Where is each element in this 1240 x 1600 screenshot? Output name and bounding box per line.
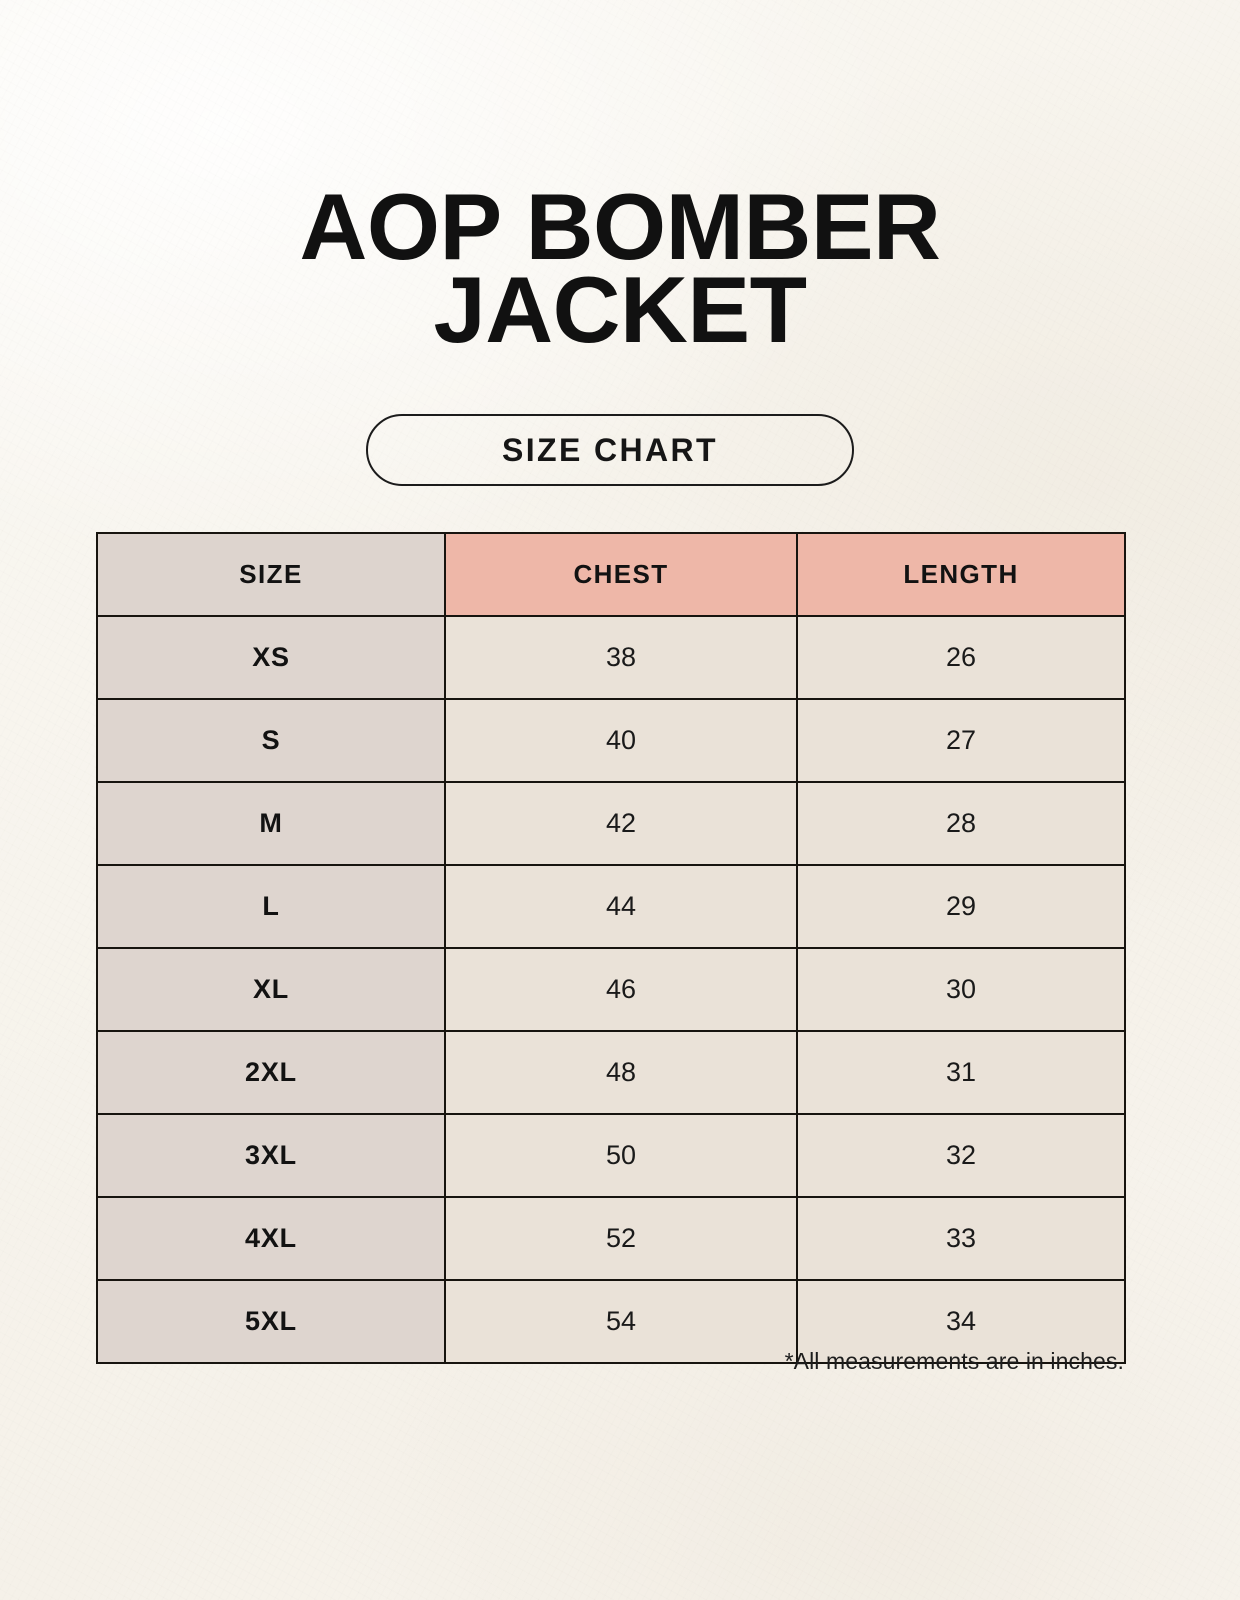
table-row: M 42 28 — [97, 782, 1125, 865]
column-header-length: LENGTH — [797, 533, 1125, 616]
table-row: XS 38 26 — [97, 616, 1125, 699]
cell-chest: 40 — [445, 699, 797, 782]
cell-chest: 44 — [445, 865, 797, 948]
cell-chest: 52 — [445, 1197, 797, 1280]
size-chart-page: AOP BOMBER JACKET SIZE CHART SIZE CHEST … — [0, 0, 1240, 1600]
cell-length: 30 — [797, 948, 1125, 1031]
size-chart-table: SIZE CHEST LENGTH XS 38 26 S 40 27 M 42 … — [96, 532, 1126, 1364]
page-title: AOP BOMBER JACKET — [0, 186, 1240, 351]
size-chart-badge: SIZE CHART — [366, 414, 854, 486]
cell-length: 26 — [797, 616, 1125, 699]
cell-size: S — [97, 699, 445, 782]
column-header-chest: CHEST — [445, 533, 797, 616]
table-header: SIZE CHEST LENGTH — [97, 533, 1125, 616]
table-row: 4XL 52 33 — [97, 1197, 1125, 1280]
table-header-row: SIZE CHEST LENGTH — [97, 533, 1125, 616]
table-row: L 44 29 — [97, 865, 1125, 948]
cell-length: 31 — [797, 1031, 1125, 1114]
table-body: XS 38 26 S 40 27 M 42 28 L 44 29 XL 46 — [97, 616, 1125, 1363]
cell-size: XS — [97, 616, 445, 699]
cell-chest: 48 — [445, 1031, 797, 1114]
column-header-size: SIZE — [97, 533, 445, 616]
table-row: XL 46 30 — [97, 948, 1125, 1031]
cell-chest: 42 — [445, 782, 797, 865]
cell-chest: 46 — [445, 948, 797, 1031]
table-row: 2XL 48 31 — [97, 1031, 1125, 1114]
cell-length: 28 — [797, 782, 1125, 865]
table-row: S 40 27 — [97, 699, 1125, 782]
cell-length: 32 — [797, 1114, 1125, 1197]
cell-length: 29 — [797, 865, 1125, 948]
cell-chest: 50 — [445, 1114, 797, 1197]
cell-length: 33 — [797, 1197, 1125, 1280]
size-chart-badge-label: SIZE CHART — [502, 432, 718, 469]
cell-size: M — [97, 782, 445, 865]
cell-size: XL — [97, 948, 445, 1031]
table-row: 3XL 50 32 — [97, 1114, 1125, 1197]
cell-size: L — [97, 865, 445, 948]
cell-size: 2XL — [97, 1031, 445, 1114]
cell-size: 4XL — [97, 1197, 445, 1280]
measurement-note: *All measurements are in inches. — [96, 1348, 1124, 1375]
cell-size: 3XL — [97, 1114, 445, 1197]
cell-length: 27 — [797, 699, 1125, 782]
page-title-line-2: JACKET — [0, 269, 1240, 352]
cell-chest: 38 — [445, 616, 797, 699]
